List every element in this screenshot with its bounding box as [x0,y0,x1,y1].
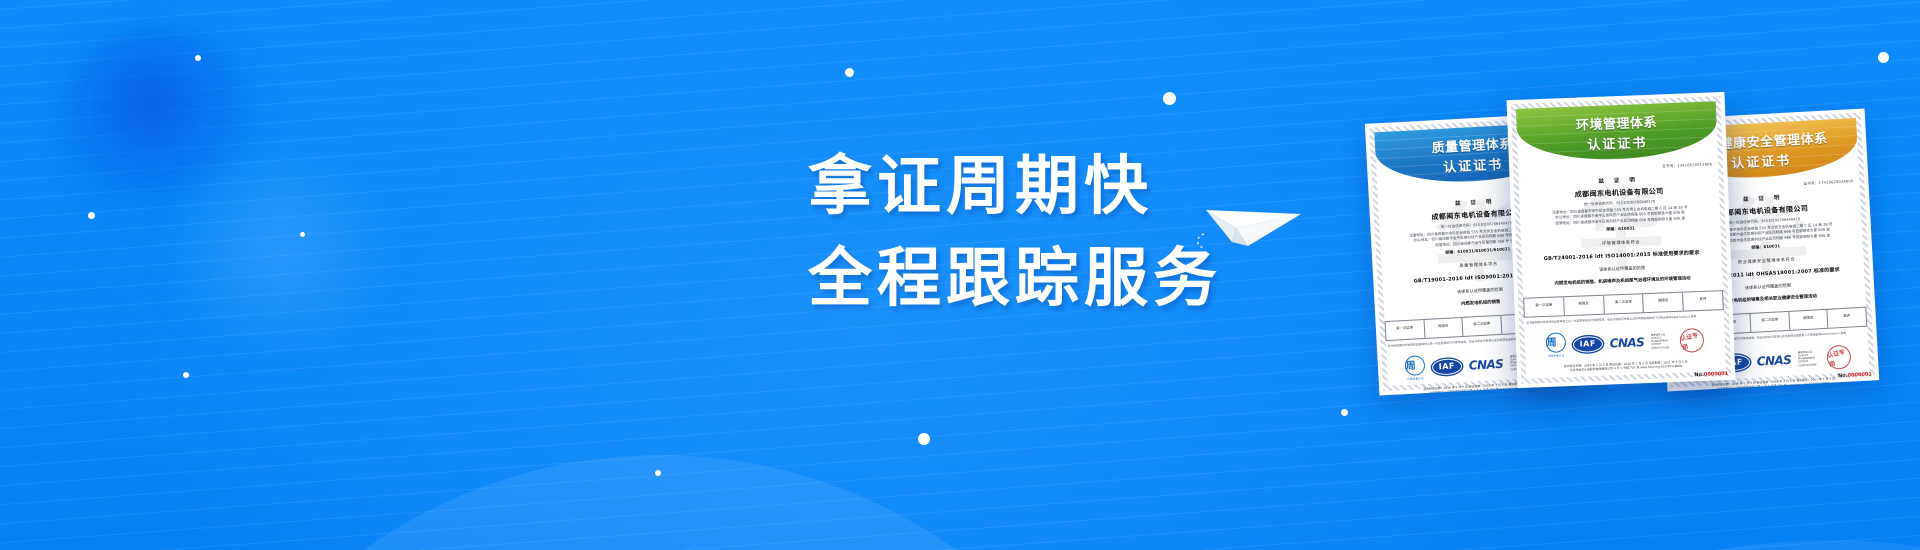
red-stamp-icon: 认证专用 [1825,343,1854,372]
cert-system-label: 环境管理体系符合 [1602,239,1641,246]
iaf-logo-icon: IAF [1572,336,1603,353]
cert-system-label: 职业健康安全管理体系符合 [1738,257,1796,266]
cert-certify-label: 兹 证 明 [1743,193,1784,203]
cert-serial: 证书号：13416620012906 [1518,162,1718,175]
cert-table-cell: 期限至 [1564,296,1604,316]
decorative-circle-right [1205,540,1920,550]
cqc-seal-icon: 周 中国质量认证 [1404,355,1425,381]
cert-number: No.0000001 [1838,371,1872,379]
cert-table-cell: 第一次监审 [1524,297,1564,317]
cert-certify-label: 兹 证 明 [1455,197,1496,207]
decorative-dot [918,433,930,445]
cert-logo-row: 周 中国质量认证 IAF CNAS 管理体系认证 QUALITY MANAGEM… [1525,326,1726,359]
decorative-dot [1163,92,1176,105]
cert-company-name: 成都闽东电机设备有限公司 [1431,208,1520,223]
headline-block: 拿证周期快 全程跟踪服务 [808,140,1222,324]
cert-table-cell: 期限至 [1643,293,1683,313]
cert-logo-caption: 管理体系认证 QUALITY MANAGEMENT SYSTEM CERTIFI… [1798,350,1821,367]
cnas-logo-icon: CNAS [1609,335,1644,350]
cert-scope-label: 该体系认证所覆盖的范围 [1457,287,1503,295]
cert-table-cell: 第二次监审 [1751,312,1791,332]
cert-title-line-2: 认证证书 [1443,153,1504,175]
decorative-circle-large [150,455,1170,550]
cert-standard: GB/T24001-2016 idt ISO14001:2015 标准使用要求的… [1544,249,1700,262]
decorative-dot [845,68,854,77]
cert-dates: 初次获证日期：2018 年 1 月 5 日 换证日期：2018 年 1 月 5 … [1564,360,1688,373]
cert-system-label: 质量管理体系符合 [1459,261,1498,269]
cert-title-line-2: 认证证书 [1587,131,1648,152]
decorative-dot [183,372,189,378]
cert-table-cell: 复评 [1683,291,1722,310]
cert-table-cell: 期限至 [1789,310,1829,330]
cert-scope-label: 该体系认证所覆盖的范围 [1745,283,1791,291]
cert-address: 注册地址：四川省成都市金牛区金府路 555 号万贯五金机电城二期 C 区 14 … [1552,205,1688,226]
headline-line-2: 全程跟踪服务 [808,232,1222,324]
cert-zip: 邮编：610031 [1751,243,1780,251]
cert-header: 环境管理体系 认证证书 [1516,101,1718,163]
certificate-group: 质量管理体系 认证证书 华 证书号：07419620012906 兹 证 明 成… [1370,96,1920,476]
headline-line-1: 拿证周期快 [808,140,1222,232]
cert-scope: 内燃发电机组的销售、机房噪声及机组尾气治理环境及的环境管理活动 [1548,276,1696,288]
paper-plane-icon [1196,186,1314,256]
cert-company-name: 成都闽东电机设备有限公司 [1719,204,1808,219]
cert-body: 环境管理体系 认证证书 华 证书号：13416620012906 兹 证 明 成… [1516,101,1726,378]
cqc-seal-icon: 周 中国质量认证 [1545,332,1566,358]
cert-certify-label: 兹 证 明 [1598,175,1639,185]
cert-company-name: 成都闽东电机设备有限公司 [1575,186,1664,199]
cert-scope-label: 该体系认证所覆盖的范围 [1599,265,1645,273]
cert-title-line-2: 认证证书 [1731,149,1792,171]
cert-table-cell: 复评 [1828,308,1867,328]
cert-table-cell: 第二次监审 [1463,316,1503,336]
decorative-dot [1878,52,1889,63]
cert-table-cell: 第二次监审 [1604,294,1644,314]
cert-logo-caption: 管理体系认证 QUALITY MANAGEMENT SYSTEM CERTIFI… [1651,333,1674,350]
decorative-dot [1341,409,1348,416]
cert-scope: 内燃发电机组的销售 [1455,300,1507,309]
cert-title-line-1: 环境管理体系 [1576,111,1658,133]
decorative-dot [88,212,95,219]
decorative-blob-light [150,150,410,350]
decorative-dot [655,470,661,476]
cert-table-cell: 第一次监审 [1386,320,1426,340]
cert-number: No.0000001 [1694,371,1728,378]
cert-table-cell: 期限至 [1424,318,1464,338]
cnas-logo-icon: CNAS [1468,357,1503,373]
cnas-logo-icon: CNAS [1756,353,1791,369]
iaf-logo-icon: IAF [1431,358,1462,376]
cert-zip: 邮编：610031/610031/610031 [1445,246,1510,256]
red-stamp-icon: 认证专用 [1678,326,1707,355]
promo-banner: 拿证周期快 全程跟踪服务 质量管理体系 认证证书 华 证书号：074196200… [0,0,1920,550]
certificate-environmental[interactable]: 环境管理体系 认证证书 华 证书号：13416620012906 兹 证 明 成… [1507,92,1736,388]
cert-zip: 邮编：610031 [1606,226,1635,233]
